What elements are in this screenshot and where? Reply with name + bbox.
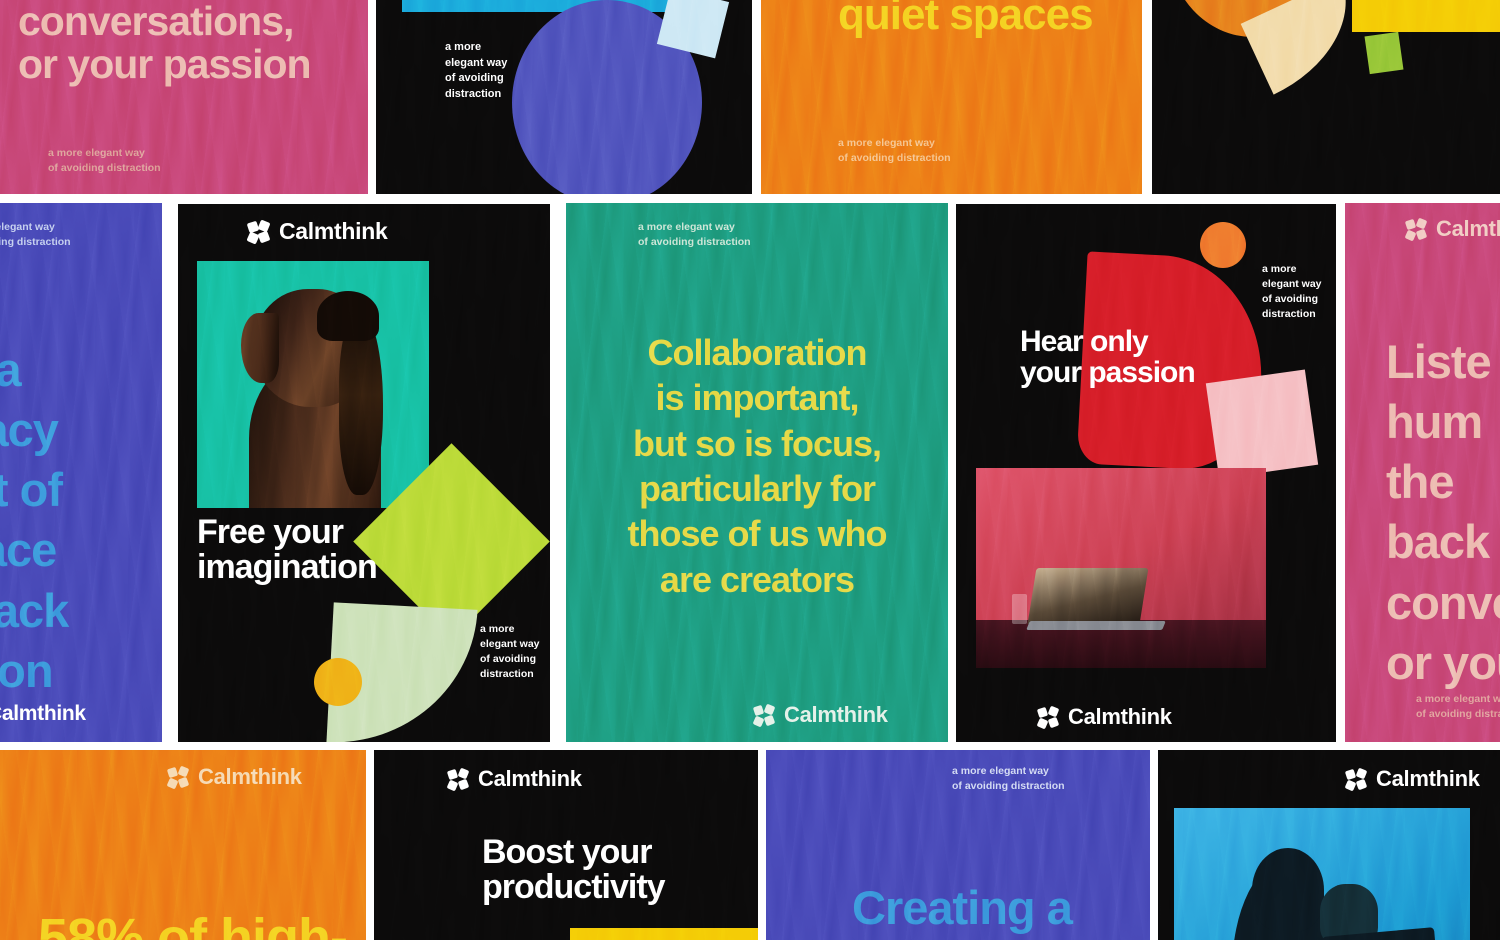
poster-headline: Collaboration is important, but so is fo… (566, 330, 948, 602)
calmthink-logo[interactable]: Calmthink (248, 220, 387, 243)
grid-gutter-vertical-a (368, 0, 376, 196)
poster-tagline: a more elegant way of avoiding distracti… (1262, 262, 1322, 322)
grid-gutter-vertical-j (1150, 746, 1158, 940)
grid-gutter-horizontal-top (0, 194, 1500, 203)
logo-wordmark: Calmthink (279, 220, 387, 243)
poster-teal-collaboration[interactable]: a more elegant way of avoiding distracti… (566, 202, 948, 744)
orange-circle-shape (1200, 222, 1246, 268)
grid-gutter-vertical-f (948, 200, 956, 746)
calmthink-pinwheel-logo-icon (1406, 219, 1427, 240)
green-chip-shape (1365, 32, 1404, 74)
logo-wordmark: Calmthink (1068, 706, 1172, 728)
poster-headline: Free your imagination (197, 515, 457, 586)
laptop-on-desk-photo (976, 468, 1266, 668)
calmthink-logo[interactable]: Calmthink (1406, 218, 1500, 240)
poster-tagline: a more elegant way of avoiding distracti… (0, 220, 71, 250)
logo-wordmark: Calmthink (1436, 218, 1500, 240)
poster-hear-only-your-passion[interactable]: Hear only your passion a more elegant wa… (954, 204, 1336, 744)
poster-wall: conversations, or your passion a more el… (0, 0, 1500, 940)
poster-tagline: a more elegant w of avoiding distra (1416, 692, 1500, 722)
yellow-band-shape (1352, 0, 1500, 32)
calmthink-logo[interactable]: Calmthink (1346, 768, 1480, 790)
poster-tagline: a more elegant way of avoiding distracti… (480, 622, 540, 682)
poster-tagline: a more elegant way of avoiding distracti… (638, 220, 751, 250)
calmthink-pinwheel-logo-icon (754, 705, 775, 726)
grid-gutter-vertical-h (366, 746, 374, 940)
poster-black-blue-circle[interactable]: a more elegant way of avoiding distracti… (375, 0, 752, 196)
amber-circle-shape (314, 658, 362, 706)
grid-gutter-vertical-b (752, 0, 761, 196)
calmthink-logo[interactable]: Calmthink (168, 766, 302, 788)
poster-headline: ng a rivacy idst of space y back ration (0, 340, 162, 701)
grid-gutter-horizontal-bottom (0, 742, 1500, 750)
woman-profile-portrait-photo (197, 261, 429, 508)
poster-headline: 58% of high- (38, 910, 347, 940)
poster-boost-productivity[interactable]: Calmthink Boost your productivity (372, 750, 760, 940)
calmthink-logo[interactable]: Calmthink (1038, 706, 1172, 728)
poster-blue-creating-a[interactable]: a more elegant way of avoiding distracti… (764, 748, 1152, 940)
poster-headline: Hear only your passion (1020, 326, 1195, 388)
grid-gutter-vertical-d (162, 200, 178, 746)
poster-orange-58-percent[interactable]: Calmthink 58% of high- (0, 748, 368, 940)
logo-wordmark: Calmthink (478, 768, 582, 790)
poster-tagline: a more elegant way of avoiding distracti… (48, 146, 161, 176)
poster-pink-conversations[interactable]: conversations, or your passion a more el… (0, 0, 370, 196)
poster-black-orange-shapes[interactable] (1152, 0, 1500, 194)
poster-headline: conversations, or your passion (18, 0, 358, 85)
poster-free-your-imagination[interactable]: Calmthink Free your imagination a more e… (178, 204, 550, 742)
calmthink-logo[interactable]: Calmthink (448, 768, 582, 790)
poster-silhouette-camera[interactable]: Calmthink (1156, 750, 1500, 940)
calmthink-pinwheel-logo-icon (1346, 769, 1367, 790)
calmthink-pinwheel-logo-icon (448, 769, 469, 790)
logo-wordmark: Calmthink (198, 766, 302, 788)
silhouette-camera-photo (1174, 808, 1470, 940)
calmthink-logo[interactable]: Calmthink (754, 704, 888, 726)
logo-wordmark: Calmthink (784, 704, 888, 726)
poster-blue-creating-privacy[interactable]: a more elegant way of avoiding distracti… (0, 202, 162, 742)
poster-headline: Creating a (852, 884, 1072, 933)
grid-gutter-vertical-i (758, 746, 766, 940)
calmthink-pinwheel-logo-icon (248, 221, 270, 243)
grid-gutter-vertical-c (1142, 0, 1152, 196)
logo-wordmark: Calmthink (1376, 768, 1480, 790)
poster-headline: Boost your productivity (482, 835, 665, 906)
calmthink-logo[interactable]: Calmthink (0, 703, 86, 724)
pink-square-shape (1206, 370, 1318, 479)
calmthink-pinwheel-logo-icon (1038, 707, 1059, 728)
poster-tagline: a more elegant way of avoiding distracti… (952, 764, 1065, 794)
poster-pink-listen-hum[interactable]: Calmthink Liste hum the back conve or yo… (1344, 202, 1500, 742)
poster-orange-quiet-spaces[interactable]: quiet spaces a more elegant way of avoid… (760, 0, 1142, 194)
yellow-band-shape (570, 928, 760, 940)
logo-wordmark: Calmthink (0, 703, 86, 724)
poster-headline: quiet spaces (838, 0, 1093, 38)
grid-gutter-vertical-g (1336, 200, 1345, 746)
poster-headline: Liste hum the back conve or you (1386, 332, 1500, 693)
poster-tagline: a more elegant way of avoiding distracti… (838, 136, 951, 166)
grid-gutter-vertical-e (550, 200, 566, 746)
calmthink-pinwheel-logo-icon (168, 767, 189, 788)
poster-tagline: a more elegant way of avoiding distracti… (445, 40, 507, 102)
